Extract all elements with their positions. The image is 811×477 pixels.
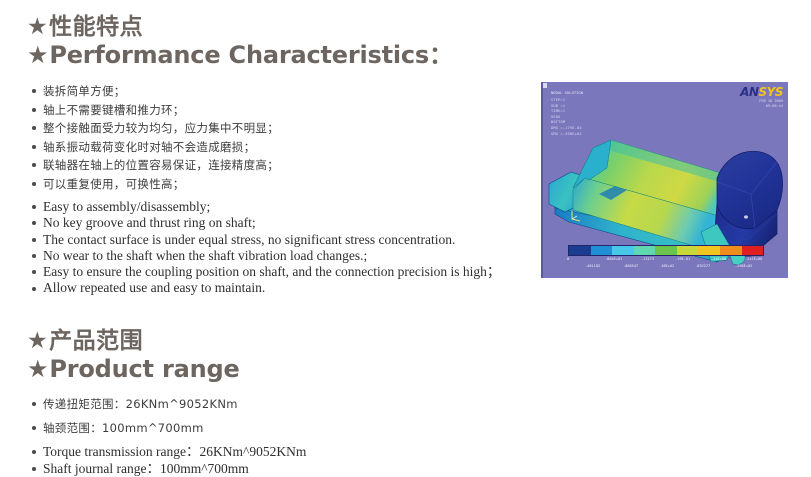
list-item: 轴颈范围：100mm^700mm bbox=[30, 416, 238, 440]
list-item: 整个接触面受力较为均匀，应力集中不明显； bbox=[30, 119, 279, 138]
product-range-heading-en: ★Product range bbox=[27, 355, 240, 384]
list-item: Shaft journal range：100mm^700mm bbox=[30, 460, 306, 477]
performance-heading-en: ★Performance Characteristics： bbox=[27, 41, 453, 70]
star-icon: ★ bbox=[27, 14, 48, 41]
list-item: 装拆简单方便； bbox=[30, 82, 279, 101]
legend-band bbox=[720, 246, 742, 255]
list-item-text: Easy to ensure the coupling position on … bbox=[43, 264, 500, 279]
coordinate-triad-icon bbox=[569, 209, 585, 223]
list-item: The contact surface is under equal stres… bbox=[30, 232, 500, 248]
performance-bullets-en: Easy to assembly/disassembly; No key gro… bbox=[30, 199, 500, 297]
list-item: No wear to the shaft when the shaft vibr… bbox=[30, 248, 500, 264]
star-icon: ★ bbox=[27, 355, 48, 384]
legend-band bbox=[634, 246, 656, 255]
list-item-text: 整个接触面受力较为均匀，应力集中不明显； bbox=[43, 121, 279, 135]
legend-label: .032277 bbox=[695, 264, 710, 268]
legend-label: .13173 bbox=[641, 257, 654, 261]
legend-band bbox=[655, 246, 677, 255]
product-spec-page: ★性能特点 ★Performance Characteristics： 装拆简单… bbox=[0, 0, 811, 477]
list-item-text: Torque transmission range：26KNm^9052KNm bbox=[43, 444, 306, 459]
legend-band bbox=[698, 246, 720, 255]
list-item-text: 联轴器在轴上的位置容易保证，连接精度高； bbox=[43, 158, 279, 172]
legend-band bbox=[591, 246, 613, 255]
product-range-heading-cn: ★产品范围 bbox=[27, 328, 240, 355]
fea-legend-labels-bottom: .401182 .066547 .16E+02 .032277 .296E+02 bbox=[563, 264, 779, 271]
list-item: 可以重复使用，可换性高； bbox=[30, 175, 279, 194]
list-item: 传递扭矩范围：26KNm^9052KNm bbox=[30, 392, 238, 416]
product-range-heading-en-text: Product range bbox=[49, 355, 239, 383]
legend-band bbox=[569, 246, 591, 255]
list-item-text: No key groove and thrust ring on shaft; bbox=[43, 215, 256, 230]
list-item: Easy to ensure the coupling position on … bbox=[30, 264, 500, 280]
list-item-text: The contact surface is under equal stres… bbox=[43, 232, 455, 247]
product-range-heading-cn-text: 产品范围 bbox=[49, 328, 143, 354]
list-item-text: 装拆简单方便； bbox=[43, 84, 126, 98]
performance-heading-en-text: Performance Characteristics： bbox=[49, 41, 452, 69]
list-item-text: No wear to the shaft when the shaft vibr… bbox=[43, 248, 367, 263]
product-range-bullets-cn: 传递扭矩范围：26KNm^9052KNm 轴颈范围：100mm^700mm bbox=[30, 392, 238, 440]
performance-heading-cn: ★性能特点 bbox=[27, 14, 453, 41]
list-item-text: 轴系振动载荷变化时对轴不会造成磨损； bbox=[43, 140, 255, 154]
list-item: 轴系振动载荷变化时对轴不会造成磨损； bbox=[30, 138, 279, 157]
legend-label: .24E+00 bbox=[711, 257, 726, 261]
fea-legend-labels-top: 0 .804E+01 .13173 .19E-01 .24E+00 .2xlE+… bbox=[563, 257, 773, 264]
legend-label: .2xlE+00 bbox=[745, 257, 762, 261]
legend-label: .804E+01 bbox=[605, 257, 622, 261]
list-item-text: 可以重复使用，可换性高； bbox=[43, 177, 185, 191]
legend-label: 0 bbox=[567, 257, 569, 261]
legend-band bbox=[612, 246, 634, 255]
star-icon: ★ bbox=[27, 328, 48, 355]
product-range-bullets-en: Torque transmission range：26KNm^9052KNm … bbox=[30, 443, 306, 477]
list-item: Allow repeated use and easy to maintain. bbox=[30, 280, 500, 296]
fea-color-legend bbox=[568, 245, 764, 256]
list-item-text: Shaft journal range：100mm^700mm bbox=[43, 461, 249, 476]
list-item: Torque transmission range：26KNm^9052KNm bbox=[30, 443, 306, 460]
list-item: No key groove and thrust ring on shaft; bbox=[30, 215, 500, 231]
list-item-text: Easy to assembly/disassembly; bbox=[43, 199, 210, 214]
model-endcap-bolt bbox=[744, 215, 748, 218]
ansys-fea-figure: NODAL SOLUTION STEP=1 SUB =1 TIME=1 SEQV… bbox=[541, 82, 788, 278]
list-item-text: 轴上不需要键槽和推力环； bbox=[43, 103, 185, 117]
legend-band bbox=[742, 246, 764, 255]
legend-label: .16E+02 bbox=[659, 264, 674, 268]
list-item-text: 轴颈范围：100mm^700mm bbox=[43, 421, 204, 435]
list-item-text: Allow repeated use and easy to maintain. bbox=[43, 280, 265, 295]
list-item: Easy to assembly/disassembly; bbox=[30, 199, 500, 215]
performance-heading-cn-text: 性能特点 bbox=[49, 14, 143, 40]
list-item: 轴上不需要键槽和推力环； bbox=[30, 101, 279, 120]
legend-label: .401182 bbox=[585, 264, 600, 268]
star-icon: ★ bbox=[27, 41, 48, 70]
legend-band bbox=[677, 246, 699, 255]
list-item: 联轴器在轴上的位置容易保证，连接精度高； bbox=[30, 156, 279, 175]
list-item-text: 传递扭矩范围：26KNm^9052KNm bbox=[43, 397, 238, 411]
legend-label: .19E-01 bbox=[675, 257, 690, 261]
performance-bullets-cn: 装拆简单方便； 轴上不需要键槽和推力环； 整个接触面受力较为均匀，应力集中不明显… bbox=[30, 82, 279, 193]
section-performance: ★性能特点 ★Performance Characteristics： bbox=[27, 14, 453, 70]
legend-label: .066547 bbox=[623, 264, 638, 268]
legend-label: .296E+02 bbox=[735, 264, 752, 268]
section-product-range: ★产品范围 ★Product range bbox=[27, 328, 240, 384]
